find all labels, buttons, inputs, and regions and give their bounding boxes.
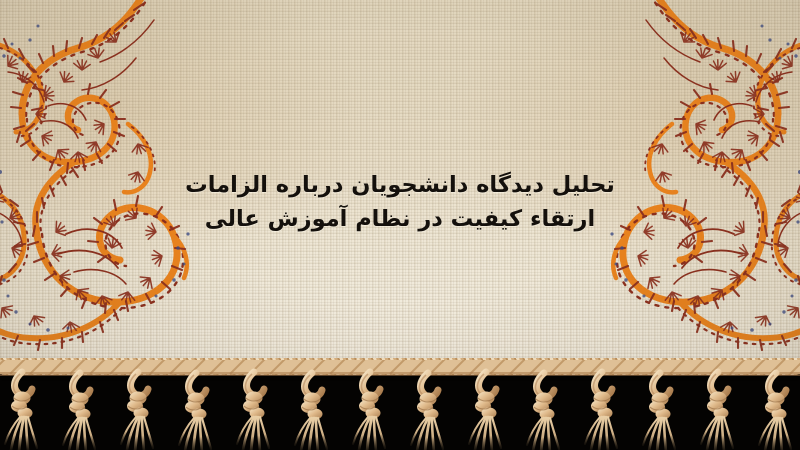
slide-canvas: تحلیل دیدگاه دانشجویان درباره الزامات ار… <box>0 0 800 450</box>
title-line-2: ارتقاء کیفیت در نظام آموزش عالی <box>0 202 800 236</box>
title-line-1: تحلیل دیدگاه دانشجویان درباره الزامات <box>0 168 800 202</box>
black-lower-band <box>0 366 800 450</box>
braided-cord-band <box>0 358 800 375</box>
slide-title: تحلیل دیدگاه دانشجویان درباره الزامات ار… <box>0 168 800 236</box>
